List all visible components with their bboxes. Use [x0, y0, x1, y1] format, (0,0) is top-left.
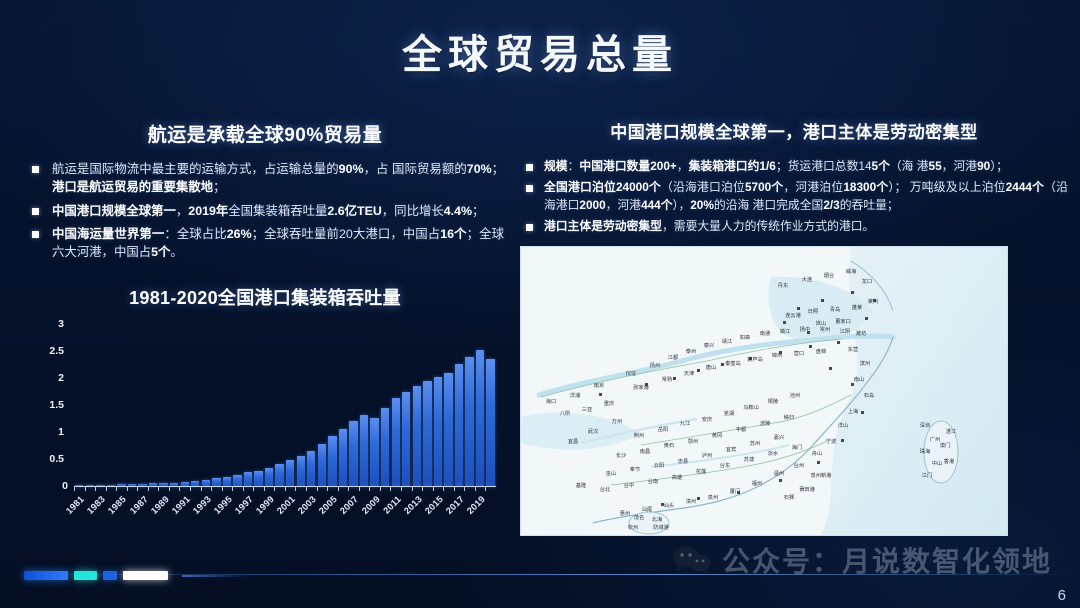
map-label: 北海	[652, 515, 662, 523]
chart-bar	[349, 421, 357, 486]
map-label: 武汉	[588, 427, 599, 435]
map-label: 唐山	[706, 363, 716, 371]
chart-x-label-slot: 2015	[433, 492, 444, 528]
map-label: 香港	[944, 457, 955, 465]
map-label: 高雄	[672, 473, 682, 481]
map-label: 龙口	[862, 277, 872, 285]
list-item: 全国港口泊位24000个（沿海港口泊位5700个，河港泊位18300个）； 万吨…	[520, 179, 1068, 214]
map-label: 台南	[648, 477, 658, 485]
chart-bar	[254, 471, 262, 486]
map-label: 钦州	[628, 523, 638, 531]
chart-x-tick	[306, 486, 317, 491]
map-label: 花莲	[696, 467, 706, 475]
map-label: 日照	[808, 308, 818, 315]
map-label: 石狮	[784, 493, 794, 501]
list-item: 中国港口规模全球第一，2019年全国集装箱吞吐量2.6亿TEU，同比增长4.4%…	[26, 202, 504, 220]
map-label: 基隆	[576, 481, 587, 489]
chart-x-tick	[158, 486, 169, 491]
chart-bar	[476, 350, 484, 486]
map-label: 奉节	[630, 465, 640, 473]
map-label: 舟山	[812, 449, 822, 457]
map-label: 涪陵	[760, 419, 771, 427]
map-label: 万州	[612, 418, 622, 425]
chart-x-tick	[369, 486, 380, 491]
map-label: 扬中	[800, 325, 810, 333]
chart-y-tick-label: 0.5	[49, 453, 64, 465]
chart-y-zero-label: 0	[34, 480, 72, 492]
chart-x-tick	[169, 486, 180, 491]
chart-x-tick	[485, 486, 496, 491]
map-label: 宜昌	[568, 437, 578, 445]
chart-x-tick	[401, 486, 412, 491]
chart-x-label-slot: 1989	[158, 492, 169, 528]
chart-bar	[455, 364, 463, 486]
map-label: 海口	[546, 397, 556, 405]
chart-y-tick-label: 2	[58, 372, 64, 384]
chart-x-label-slot: 2009	[369, 492, 380, 528]
map-label: 张家港	[633, 383, 649, 391]
map-label: 镇江	[780, 327, 790, 335]
map-label: 荆州	[634, 431, 644, 439]
chart-x-tick	[127, 486, 138, 491]
chart-x-tick	[327, 486, 338, 491]
left-bullet-list: 航运是国际物流中最主要的运输方式，占运输总量的90%，占 国际贸易额的70%；港…	[26, 160, 504, 262]
chart-x-tick	[464, 486, 475, 491]
chart-bar	[328, 436, 336, 486]
chart-bar	[212, 478, 220, 486]
chart-x-tick	[390, 486, 401, 491]
map-label: 台中	[624, 481, 634, 489]
map-label: 青岛	[830, 305, 840, 313]
map-label: 岚山	[816, 319, 826, 327]
chart-x-tick	[148, 486, 159, 491]
chart-y-axis: 00.511.522.53	[34, 324, 68, 486]
chart-x-label-slot: 1995	[222, 492, 233, 528]
map-label: 台州	[794, 461, 804, 469]
page-title: 全球贸易总量	[0, 22, 1080, 80]
map-label: 宜宾	[726, 445, 736, 453]
map-label: 忠县	[678, 458, 688, 465]
map-label: 仪征	[626, 369, 636, 377]
chart-x-tick	[222, 486, 233, 491]
chart-x-label-slot: 1997	[243, 492, 254, 528]
chart-x-tick	[95, 486, 106, 491]
map-label: 盘锦	[816, 347, 826, 355]
map-label: 天津	[684, 370, 694, 377]
chart-bar	[223, 477, 231, 486]
list-item: 中国海运量世界第一：全球占比26%；全球吞吐量前20大港口，中国占16个；全球六…	[26, 225, 504, 262]
chart-y-tick-label: 3	[58, 318, 64, 330]
map-label: 鄂州	[688, 437, 698, 445]
chart-bar	[244, 472, 252, 486]
chart-bar	[413, 386, 421, 485]
map-label: 云阳	[654, 461, 664, 469]
map-label: 丰都	[736, 425, 746, 433]
chart-x-tick	[412, 486, 423, 491]
chart-x-tick	[243, 486, 254, 491]
chart-x-tick	[137, 486, 148, 491]
chart-x-label-slot: 2019	[475, 492, 486, 528]
footer-bar-line	[182, 575, 248, 577]
map-label: 芜湖	[724, 409, 734, 417]
map-label: 泰州	[686, 347, 696, 355]
map-label: 台北	[600, 485, 611, 493]
chart-x-tick	[85, 486, 96, 491]
chart-x-tick	[475, 486, 486, 491]
map-label: 八所	[560, 409, 570, 417]
map-label: 铜陵	[768, 397, 779, 405]
chart-x-tick	[285, 486, 296, 491]
map-label: 深圳	[920, 421, 930, 429]
map-label: 泰兴	[704, 341, 714, 349]
chart-title: 1981-2020全国港口集装箱吞吐量	[26, 284, 504, 310]
map-label: 湛江	[946, 428, 956, 435]
chart-x-tick	[106, 486, 117, 491]
right-column: 中国港口规模全球第一，港口主体是劳动密集型 规模：中国港口数量200+，集装箱港…	[520, 118, 1068, 536]
map-label: 漳州	[686, 497, 696, 505]
chart-bar	[360, 415, 368, 486]
map-label: 澳门	[940, 441, 950, 449]
chart-x-label-slot: 1999	[264, 492, 275, 528]
map-label: 泸州	[702, 451, 712, 459]
map-label: 黄冈	[712, 431, 722, 439]
map-label: 南昌	[640, 447, 650, 455]
map-label: 洋浦	[570, 391, 580, 399]
china-ports-map: 南京仪征扬州江都泰州泰兴靖江如皋南通镇江扬中常州江阴张家港常熟天津唐山秦皇岛葫芦…	[520, 246, 1008, 536]
chart-x-tick	[348, 486, 359, 491]
map-label: 靖江	[722, 337, 732, 345]
chart-x-tick	[190, 486, 201, 491]
map-label: 重庆	[604, 399, 614, 407]
chart-bar	[465, 357, 473, 486]
chart-bar	[297, 456, 305, 486]
map-label: 葫芦岛	[747, 355, 763, 363]
map-label: 汕尾	[642, 505, 652, 513]
chart-x-tick	[232, 486, 243, 491]
map-label: 九江	[680, 419, 690, 427]
chart-x-tick	[338, 486, 349, 491]
chart-x-tick	[264, 486, 275, 491]
map-label: 温州	[774, 469, 784, 477]
map-label: 蓬莱	[852, 303, 862, 311]
map-label: 苏州	[750, 439, 760, 447]
map-label: 珠海	[920, 447, 930, 455]
chart-x-label-slot: 2001	[285, 492, 296, 528]
chart-x-label-slot: 2005	[327, 492, 338, 528]
map-label: 莱州	[868, 297, 878, 305]
map-label: 洋山	[838, 421, 848, 429]
right-column-heading: 中国港口规模全球第一，港口主体是劳动密集型	[520, 118, 1068, 143]
chart-x-label-slot: 2013	[412, 492, 423, 528]
chart-x-tick	[380, 486, 391, 491]
chart-x-label-slot: 2007	[348, 492, 359, 528]
chart-x-label-slot: 1993	[201, 492, 212, 528]
chart-plot-area	[74, 324, 496, 486]
chart-x-label-slot: 1987	[137, 492, 148, 528]
map-label: 秭归	[784, 413, 794, 421]
chart-x-tick	[201, 486, 212, 491]
map-label: 锦州	[772, 351, 782, 359]
map-label: 大连	[802, 275, 813, 283]
map-label: 安庆	[702, 415, 712, 423]
chart-x-tick	[317, 486, 328, 491]
map-label-layer: 南京仪征扬州江都泰州泰兴靖江如皋南通镇江扬中常州江阴张家港常熟天津唐山秦皇岛葫芦…	[521, 247, 1007, 535]
list-item: 港口主体是劳动密集型，需要大量人力的传统作业方式的港口。	[520, 218, 1068, 235]
map-label: 汕头	[664, 501, 674, 509]
map-label: 如皋	[740, 333, 751, 341]
map-label: 福州	[752, 479, 762, 487]
chart-bar	[402, 392, 410, 485]
map-label: 马鞍山	[743, 403, 759, 411]
footer-bar-white	[123, 571, 168, 580]
chart-x-tick-label: 1981	[64, 494, 86, 516]
chart-y-tick-label: 1.5	[49, 399, 64, 411]
chart-x-tick	[274, 486, 285, 491]
chart-bar	[370, 418, 378, 486]
chart-x-tick	[211, 486, 222, 491]
map-label: 岳阳	[658, 425, 668, 433]
map-label: 江都	[668, 354, 678, 361]
map-label: 茂名	[634, 513, 644, 521]
footer-bar-cyan	[74, 571, 97, 580]
chart-bar	[392, 398, 400, 485]
chart-bar	[307, 451, 315, 486]
map-label: 池州	[790, 391, 800, 399]
chart-x-tick	[433, 486, 444, 491]
left-column: 航运是承载全球90%贸易量 航运是国际物流中最主要的运输方式，占运输总量的90%…	[26, 120, 504, 529]
map-label: 南山	[854, 375, 864, 383]
map-label: 黄石	[664, 441, 674, 449]
map-label: 烟台	[824, 271, 834, 279]
chart-bar	[434, 377, 442, 486]
map-label: 泉州新港	[811, 471, 833, 479]
map-label: 巫山	[606, 469, 616, 477]
chart-bar	[233, 475, 241, 486]
map-label: 防城港	[653, 523, 669, 531]
map-label: 滨州	[860, 359, 870, 367]
wechat-icon	[672, 545, 712, 575]
chart-x-tick	[422, 486, 433, 491]
chart-x-tick	[179, 486, 190, 491]
map-label: 上海	[848, 407, 858, 415]
map-label: 江阴	[840, 327, 850, 335]
map-label: 南京	[594, 381, 604, 389]
map-label: 连云港	[785, 311, 801, 319]
chart-y-tick-label: 2.5	[49, 345, 64, 357]
chart-bar	[444, 373, 452, 486]
chart-x-tick-labels: 1981198319851987198919911993199519971999…	[74, 492, 496, 528]
footer-bar-blue	[24, 571, 68, 580]
chart-x-label-slot: 1981	[74, 492, 85, 528]
chart-x-tick	[295, 486, 306, 491]
map-label: 泉州	[708, 493, 718, 501]
chart-bar	[423, 381, 431, 486]
map-label: 南通	[760, 329, 771, 337]
chart-bar	[265, 468, 273, 486]
chart-bar	[286, 460, 294, 485]
map-label: 威海	[846, 267, 856, 275]
map-label: 常熟	[662, 375, 673, 383]
chart-x-label-slot: 1983	[95, 492, 106, 528]
chart-bar	[486, 359, 494, 485]
map-label: 江门	[922, 471, 932, 479]
chart-bar	[381, 408, 389, 486]
map-label: 董家口	[835, 317, 851, 325]
map-label: 扬州	[650, 361, 660, 369]
list-item: 航运是国际物流中最主要的运输方式，占运输总量的90%，占 国际贸易额的70%；港…	[26, 160, 504, 197]
chart-x-tick	[443, 486, 454, 491]
chart-x-tick	[116, 486, 127, 491]
map-label: 东营	[848, 345, 858, 353]
list-item: 规模：中国港口数量200+，集装箱港口约1/6；货运港口总数145个（海 港55…	[520, 158, 1068, 175]
map-label: 广州	[930, 435, 940, 443]
chart-x-label-slot: 1991	[179, 492, 190, 528]
map-label: 潍坊	[856, 329, 866, 337]
chart-x-label-slot: 2011	[390, 492, 401, 528]
right-bullet-list: 规模：中国港口数量200+，集装箱港口约1/6；货运港口总数145个（海 港55…	[520, 158, 1068, 236]
map-label: 苏澳	[744, 455, 755, 463]
map-label: 宁波	[826, 437, 837, 445]
chart-x-label-slot	[485, 492, 496, 528]
chart-x-tick	[454, 486, 465, 491]
chart-x-tick	[253, 486, 264, 491]
map-label: 三亚	[582, 406, 592, 413]
container-throughput-chart: 00.511.522.53 19811983198519871989199119…	[34, 324, 496, 529]
map-label: 惠州	[620, 509, 630, 517]
map-label: 石岛	[864, 391, 874, 399]
chart-bar	[275, 464, 283, 486]
chart-x-ticks	[74, 486, 496, 491]
chart-x-label-slot: 1985	[116, 492, 127, 528]
map-label: 长沙	[616, 451, 626, 459]
left-column-heading: 航运是承载全球90%贸易量	[26, 120, 504, 147]
page-number: 6	[1058, 587, 1066, 604]
chart-bar	[318, 444, 326, 486]
chart-x-label-slot: 2003	[306, 492, 317, 528]
map-label: 中山	[932, 459, 942, 467]
map-label: 嘉兴	[774, 433, 784, 441]
map-label: 营口	[794, 349, 804, 357]
map-label: 台东	[720, 461, 730, 469]
footer-bar-blue-small	[103, 571, 117, 580]
map-label: 厦门	[730, 487, 740, 495]
map-label: 秦皇岛	[725, 359, 741, 367]
chart-x-label-slot: 2017	[454, 492, 465, 528]
chart-y-tick-label: 1	[58, 426, 64, 438]
chart-x-tick	[74, 486, 85, 491]
chart-bar	[339, 429, 347, 486]
slide-root: 全球贸易总量 航运是承载全球90%贸易量 航运是国际物流中最主要的运输方式，占运…	[0, 0, 1080, 608]
footer-decoration-bars	[24, 571, 248, 580]
map-label: 淡水	[768, 449, 779, 457]
chart-x-tick	[359, 486, 370, 491]
map-label: 海门	[792, 443, 802, 451]
map-label: 莆田港	[799, 485, 815, 493]
map-label: 丹东	[778, 281, 788, 289]
